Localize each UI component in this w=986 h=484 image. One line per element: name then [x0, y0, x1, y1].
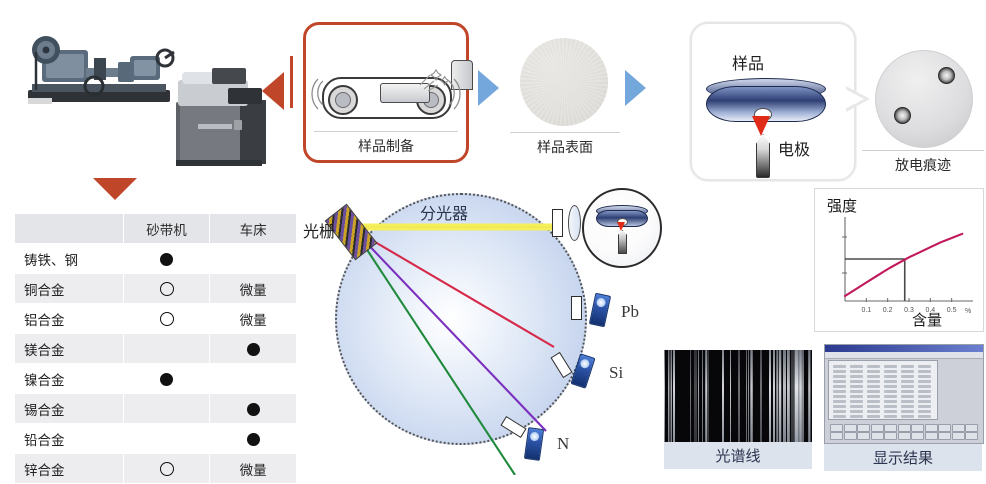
spectral-lines-panel: 光谱线 [664, 350, 812, 475]
mock-grid-cell [918, 370, 931, 373]
table-row: 镁合金 [15, 334, 297, 364]
mock-toolbar-button[interactable] [911, 424, 924, 432]
cell-belt-grinder [123, 334, 210, 364]
table-row: 铜合金微量 [15, 274, 297, 304]
chart-unit-label: % [965, 308, 971, 315]
spectral-line [779, 350, 780, 442]
mock-grid-cell [833, 395, 846, 398]
spectral-line [760, 350, 762, 442]
entrance-slit-icon [552, 209, 563, 237]
cell-material: 锌合金 [15, 454, 124, 484]
mock-grid-cell [918, 405, 931, 408]
mock-grid-cell [884, 385, 897, 388]
mock-grid-cell [833, 365, 846, 368]
element-label-si: Si [609, 363, 623, 383]
spectral-line [702, 350, 703, 442]
cell-belt-grinder [123, 454, 210, 484]
cell-material: 镁合金 [15, 334, 124, 364]
spectral-line [769, 350, 771, 442]
mock-grid-cell [867, 400, 880, 403]
mock-grid-cell [884, 365, 897, 368]
mock-grid-cell [850, 380, 863, 383]
mock-toolbar-button[interactable] [830, 432, 843, 440]
spectral-line [671, 350, 672, 442]
spectral-lines-image [664, 350, 812, 442]
mock-grid-cell [867, 365, 880, 368]
mock-toolbar-button[interactable] [871, 424, 884, 432]
mock-grid-cell [833, 390, 846, 393]
cell-material: 铜合金 [15, 274, 124, 304]
mock-toolbar-button[interactable] [844, 424, 857, 432]
spectral-line [788, 350, 790, 442]
mock-grid-cell [901, 375, 914, 378]
mock-grid-cell [901, 380, 914, 383]
mock-grid-cell [884, 405, 897, 408]
mock-grid-cell [901, 405, 914, 408]
chart-xtick-label: 0.5 [947, 307, 957, 314]
mock-grid-cell [901, 410, 914, 413]
chart-xtick-label: 0.1 [861, 307, 871, 314]
mock-grid-cell [918, 380, 931, 383]
chart-ylabel: 强度 [827, 198, 857, 215]
cell-belt-grinder [123, 424, 210, 454]
mock-grid-cell [901, 390, 914, 393]
spectral-line [809, 350, 810, 442]
mock-grid-cell [884, 395, 897, 398]
discharge-marks-photo [875, 50, 973, 148]
step-card-sample-preparation[interactable]: 样品制备 [303, 22, 469, 163]
table-header-lathe: 车床 [210, 214, 297, 244]
mock-grid-cell [901, 415, 914, 418]
mock-grid-cell [867, 385, 880, 388]
mock-grid-cell [867, 395, 880, 398]
mock-data-grid [828, 360, 938, 420]
mock-grid-cell [850, 415, 863, 418]
mock-grid-cell [867, 375, 880, 378]
table-row: 铸铁、钢 [15, 244, 297, 274]
mock-grid-cell [901, 395, 914, 398]
table-row: 锡合金 [15, 394, 297, 424]
mark-open-circle [160, 462, 174, 476]
mark-trace-text: 微量 [240, 283, 267, 298]
mock-toolbar-button[interactable] [844, 432, 857, 440]
table-row: 铅合金 [15, 424, 297, 454]
discharge-marks-label: 放电痕迹 [895, 157, 951, 173]
sample-label: 样品 [732, 50, 764, 74]
step-label-sample-surface: 样品表面 [537, 139, 593, 155]
grating-label: 光栅 [303, 218, 335, 242]
cell-material: 锡合金 [15, 394, 124, 424]
red-arrow-left-icon [262, 72, 284, 110]
spark-source-inset [582, 188, 662, 268]
mock-grid-cell [850, 370, 863, 373]
mock-toolbar-button[interactable] [952, 424, 965, 432]
spectral-line [748, 350, 749, 442]
mock-grid-cell [918, 395, 931, 398]
spectral-line [773, 350, 776, 442]
motion-lines-left-icon [310, 77, 328, 111]
spectral-line [690, 350, 691, 442]
cell-material: 铸铁、钢 [15, 244, 124, 274]
mock-toolbar-button[interactable] [965, 424, 978, 432]
mock-grid-cell [850, 390, 863, 393]
cell-belt-grinder [123, 394, 210, 424]
spectral-line [794, 350, 796, 442]
cell-lathe [210, 394, 297, 424]
mock-toolbar-button[interactable] [925, 424, 938, 432]
spectrometer-body-label: 分光器 [420, 200, 468, 224]
calibration-curve-card: 强度 0.10.20.30.40.5 % 含量 [814, 188, 984, 332]
spectral-line [750, 350, 752, 442]
mock-grid-cell [850, 385, 863, 388]
mock-button-row [828, 424, 980, 440]
mock-grid-cell [833, 415, 846, 418]
spectral-line [673, 350, 676, 442]
mock-grid-cell [867, 405, 880, 408]
spectral-line [722, 350, 725, 442]
table-header-material [15, 214, 124, 244]
red-arrow-down-icon [93, 178, 137, 200]
table-header-belt-grinder: 砂带机 [123, 214, 210, 244]
spectral-line [798, 350, 800, 442]
mock-toolbar-button[interactable] [925, 432, 938, 440]
mock-grid-cell [867, 410, 880, 413]
conveyor-grinder-icon [306, 25, 466, 125]
electrode-tip-icon [756, 134, 770, 178]
spectral-line [810, 350, 811, 442]
mock-grid-cell [884, 410, 897, 413]
chart-calibration-line [845, 234, 962, 296]
mark-trace-text: 微量 [240, 313, 267, 328]
inset-electrode-icon [618, 230, 627, 254]
spectral-line [707, 350, 709, 442]
mark-open-circle [160, 312, 174, 326]
spark-discharge-callout: 样品 电极 [690, 22, 856, 181]
step-label-sample-preparation: 样品制备 [358, 138, 414, 154]
mark-filled-circle [247, 433, 260, 446]
mock-grid-cell [884, 390, 897, 393]
software-screenshot-image [824, 344, 984, 444]
table-row: 铝合金微量 [15, 304, 297, 334]
results-label: 显示结果 [873, 447, 933, 468]
results-panel: 显示结果 [824, 344, 982, 475]
material-preparation-table: 砂带机 车床 铸铁、钢铜合金微量铝合金微量镁合金镍合金锡合金铅合金锌合金微量 [14, 213, 297, 484]
mark-filled-circle [247, 403, 260, 416]
spectral-line [694, 350, 697, 442]
mock-grid-cell [850, 375, 863, 378]
chart-xtick-label: 0.2 [883, 307, 893, 314]
cell-belt-grinder [123, 304, 210, 334]
mock-grid-cell [918, 410, 931, 413]
spectral-line [730, 350, 731, 442]
mock-grid-cell [918, 385, 931, 388]
mock-grid-cell [833, 380, 846, 383]
step-caption-sample-surface: 样品表面 [510, 132, 620, 157]
cell-material: 镍合金 [15, 364, 124, 394]
mock-grid-cell [833, 400, 846, 403]
mock-grid-cell [833, 385, 846, 388]
spectral-line [746, 350, 747, 442]
mock-grid-cell [867, 380, 880, 383]
spectral-line [698, 350, 699, 442]
spectral-lines-label: 光谱线 [715, 445, 760, 466]
cell-material: 铝合金 [15, 304, 124, 334]
mock-toolbar-button[interactable] [938, 432, 951, 440]
spectral-line [777, 350, 779, 442]
cell-lathe [210, 334, 297, 364]
cell-lathe: 微量 [210, 454, 297, 484]
mock-grid-cell [901, 400, 914, 403]
mock-toolbar-button[interactable] [898, 424, 911, 432]
mark-trace-text: 微量 [240, 463, 267, 478]
mock-grid-cell [918, 375, 931, 378]
mock-grid-cell [850, 365, 863, 368]
spectral-line [664, 350, 665, 442]
mock-grid-cell [833, 405, 846, 408]
mock-toolbar-button[interactable] [952, 432, 965, 440]
mock-grid-cell [867, 370, 880, 373]
mock-grid-cell [918, 365, 931, 368]
cell-material: 铅合金 [15, 424, 124, 454]
mock-grid-cell [867, 390, 880, 393]
red-bar-divider [290, 56, 293, 108]
blue-arrow-icon-1 [478, 70, 499, 106]
spectral-line [738, 350, 739, 442]
discharge-marks-caption: 放电痕迹 [862, 150, 984, 175]
cell-lathe: 微量 [210, 274, 297, 304]
sample-surface-photo [520, 38, 608, 126]
mock-toolbar-button[interactable] [830, 424, 843, 432]
cell-belt-grinder [123, 274, 210, 304]
discharge-mark-1 [938, 67, 955, 84]
mock-grid-cell [884, 375, 897, 378]
mock-grid-cell [901, 365, 914, 368]
cell-lathe [210, 364, 297, 394]
table-header-row: 砂带机 车床 [15, 214, 297, 244]
mock-grid-cell [901, 385, 914, 388]
mock-grid-cell [918, 415, 931, 418]
mock-toolbar-button[interactable] [884, 432, 897, 440]
mock-grid-cell [918, 400, 931, 403]
mock-toolbar-button[interactable] [871, 432, 884, 440]
cell-belt-grinder [123, 364, 210, 394]
mock-grid-cell [833, 370, 846, 373]
mock-toolbar-button[interactable] [884, 424, 897, 432]
mark-open-circle [160, 282, 174, 296]
cell-lathe [210, 244, 297, 274]
exit-slit-pb [571, 296, 582, 320]
mock-window-titlebar [825, 345, 983, 352]
inset-spark-icon [617, 222, 625, 231]
blue-arrow-icon-2 [625, 70, 646, 106]
table-row: 锌合金微量 [15, 454, 297, 484]
element-label-pb: Pb [621, 302, 639, 322]
mock-grid-cell [884, 400, 897, 403]
mock-grid-cell [901, 370, 914, 373]
spectral-line [726, 350, 727, 442]
mock-toolbar-button[interactable] [857, 424, 870, 432]
cell-belt-grinder [123, 244, 210, 274]
step-caption-sample-preparation: 样品制备 [314, 131, 458, 156]
mark-filled-circle [160, 373, 173, 386]
mock-toolbar-button[interactable] [938, 424, 951, 432]
mock-toolbar-button[interactable] [911, 432, 924, 440]
results-caption: 显示结果 [824, 444, 982, 471]
mock-grid-cell [884, 415, 897, 418]
mock-toolbar-button[interactable] [898, 432, 911, 440]
mock-grid-cell [833, 375, 846, 378]
mock-grid-cell [850, 410, 863, 413]
mock-toolbar-button[interactable] [857, 432, 870, 440]
motion-lines-right-icon [444, 77, 462, 111]
spectral-lines-caption: 光谱线 [664, 442, 812, 469]
table-row: 镍合金 [15, 364, 297, 394]
lathe-machine-photo [22, 28, 182, 114]
focusing-lens-icon [568, 205, 581, 241]
cell-lathe: 微量 [210, 304, 297, 334]
calibration-chart: 强度 0.10.20.30.40.5 % 含量 [815, 189, 983, 331]
element-label-n: N [557, 434, 569, 454]
mock-grid-cell [833, 410, 846, 413]
mock-grid-cell [918, 390, 931, 393]
spectral-line [802, 350, 805, 442]
mock-grid-cell [884, 380, 897, 383]
electrode-label: 电极 [778, 136, 810, 160]
mark-filled-circle [160, 253, 173, 266]
cell-lathe [210, 424, 297, 454]
mock-grid-cell [867, 415, 880, 418]
chart-xlabel: 含量 [912, 312, 942, 329]
mock-grid-cell [850, 400, 863, 403]
mock-window-menubar [825, 352, 983, 359]
spectral-line [781, 350, 782, 442]
spark-plasma-icon [752, 116, 770, 136]
spectral-line [787, 350, 788, 442]
discharge-mark-2 [894, 107, 911, 124]
mark-filled-circle [247, 343, 260, 356]
spectral-line [705, 350, 707, 442]
mock-grid-cell [850, 405, 863, 408]
mock-grid-cell [884, 370, 897, 373]
mock-toolbar-button[interactable] [965, 432, 978, 440]
callout-tail-fill [845, 89, 864, 109]
mock-grid-cell [850, 395, 863, 398]
